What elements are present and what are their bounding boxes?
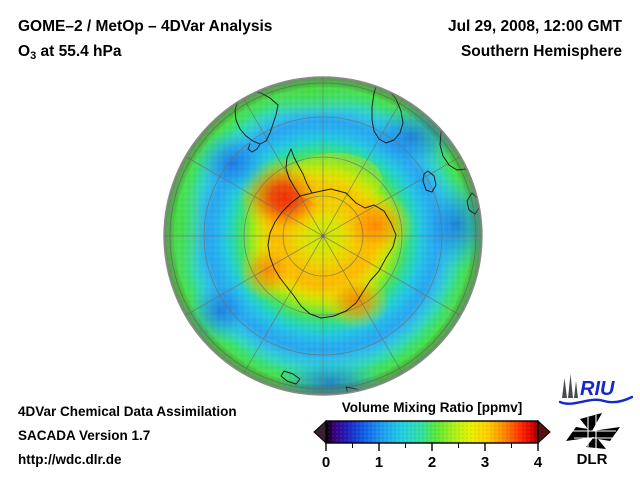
version-label: SACADA Version 1.7 [18,424,318,448]
dlr-logo: DLR [562,411,634,469]
colorbar-tick-2: 2 [428,454,436,471]
colorbar-arrow-high [538,421,550,443]
globe-map-panel [160,75,486,401]
colorbar-tick-0: 0 [322,454,330,471]
riu-spires-icon [562,374,578,398]
colorbar-ticks-major [326,443,538,451]
method-label: 4DVar Chemical Data Assimilation [18,400,318,424]
colorbar-block: Volume Mixing Ratio [ppmv] [312,400,552,473]
colorbar-dither [326,421,538,443]
dlr-wordmark: DLR [577,451,608,468]
colorbar-tick-labels: 0 1 2 3 4 [322,454,543,471]
south-pole-marker [321,234,325,238]
website-url[interactable]: http://wdc.dlr.de [18,448,318,472]
colorbar-tick-1: 1 [375,454,383,471]
header-right-block: Jul 29, 2008, 12:00 GMT Southern Hemisph… [322,14,622,64]
timestamp-label: Jul 29, 2008, 12:00 GMT [322,14,622,39]
colorbar-tick-3: 3 [481,454,489,471]
globe-disk [160,75,486,401]
riu-logo: RIU [556,372,636,408]
hemisphere-label: Southern Hemisphere [322,39,622,64]
colorbar-arrow-low [314,421,326,443]
colorbar-title: Volume Mixing Ratio [ppmv] [312,400,552,415]
footer-left-block: 4DVar Chemical Data Assimilation SACADA … [18,400,318,472]
colorbar-tick-4: 4 [534,454,543,471]
riu-wordmark: RIU [580,378,615,400]
species-label: O [18,43,30,60]
colorbar: 0 1 2 3 4 [312,419,552,473]
polar-stereographic-map [160,75,486,401]
level-label: at 55.4 hPa [36,43,121,60]
